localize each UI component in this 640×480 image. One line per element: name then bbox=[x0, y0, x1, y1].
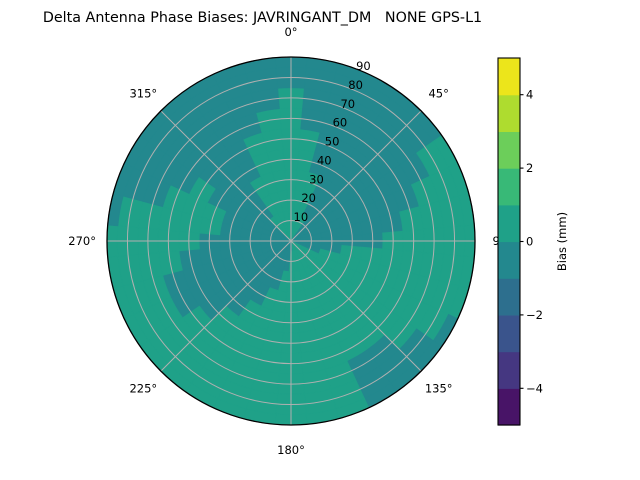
azimuth-tick-label: 45° bbox=[428, 86, 448, 100]
radial-tick-label: 20 bbox=[301, 191, 316, 205]
radial-tick-label: 90 bbox=[356, 59, 371, 73]
radial-tick-label: 10 bbox=[294, 210, 309, 224]
page-title: Delta Antenna Phase Biases: JAVRINGANT_D… bbox=[0, 10, 525, 26]
polar-plot: 0°45°90135°180°225°270°315° 102030405060… bbox=[0, 0, 640, 480]
azimuth-tick-label: 0° bbox=[284, 25, 297, 39]
radial-tick-label: 60 bbox=[333, 116, 348, 130]
radial-tick-label: 80 bbox=[348, 78, 363, 92]
colorbar-band bbox=[498, 131, 520, 168]
colorbar-tick-label: −4 bbox=[526, 381, 543, 395]
radial-tick-label: 30 bbox=[309, 172, 324, 186]
colorbar-band bbox=[498, 388, 520, 425]
radial-tick-label: 70 bbox=[340, 97, 355, 111]
polar-grid bbox=[107, 57, 475, 425]
azimuth-tick-label: 315° bbox=[129, 86, 157, 100]
colorbar-band bbox=[498, 315, 520, 352]
colorbar-band bbox=[498, 168, 520, 205]
colorbar-band bbox=[498, 242, 520, 279]
colorbar-band bbox=[498, 278, 520, 315]
colorbar-band bbox=[498, 58, 520, 95]
azimuth-tick-label: 135° bbox=[425, 382, 453, 396]
radial-tick-label: 40 bbox=[317, 153, 332, 167]
colorbar-band bbox=[498, 352, 520, 389]
colorbar-band bbox=[498, 205, 520, 242]
azimuth-tick-label: 270° bbox=[68, 234, 96, 248]
colorbar-axis-title: Bias (mm) bbox=[555, 212, 569, 271]
colorbar-tick-label: 0 bbox=[526, 235, 533, 249]
colorbar-tick-label: 2 bbox=[526, 161, 533, 175]
azimuth-tick-label: 180° bbox=[277, 443, 305, 457]
azimuth-tick-label: 225° bbox=[129, 382, 157, 396]
colorbar: −4−2024Bias (mm) bbox=[498, 58, 569, 426]
radial-tick-label: 50 bbox=[325, 135, 340, 149]
colorbar-band bbox=[498, 95, 520, 132]
figure-canvas: Delta Antenna Phase Biases: JAVRINGANT_D… bbox=[0, 0, 640, 480]
colorbar-tick-label: −2 bbox=[526, 308, 543, 322]
colorbar-tick-label: 4 bbox=[526, 88, 533, 102]
